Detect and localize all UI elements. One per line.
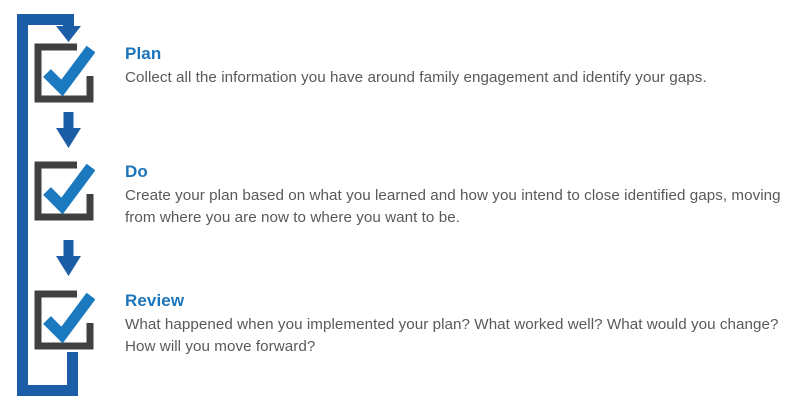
step-plan: Plan Collect all the information you hav… [0, 42, 800, 104]
checkbox-check-icon [33, 160, 95, 222]
step-review: Review What happened when you implemente… [0, 289, 800, 358]
step-description: What happened when you implemented your … [125, 314, 797, 358]
checkbox-check-icon [33, 289, 95, 351]
step-title: Review [125, 291, 800, 311]
step-title: Plan [125, 44, 800, 64]
plan-do-review-diagram: Plan Collect all the information you hav… [0, 0, 800, 400]
step-text: Plan Collect all the information you hav… [125, 42, 800, 89]
step-description: Collect all the information you have aro… [125, 67, 797, 89]
down-arrow [56, 112, 81, 148]
checkbox-check-icon [33, 42, 95, 104]
step-text: Do Create your plan based on what you le… [125, 160, 800, 229]
step-text: Review What happened when you implemente… [125, 289, 800, 358]
step-description: Create your plan based on what you learn… [125, 185, 797, 229]
down-arrow [56, 240, 81, 276]
step-do: Do Create your plan based on what you le… [0, 160, 800, 229]
step-title: Do [125, 162, 800, 182]
